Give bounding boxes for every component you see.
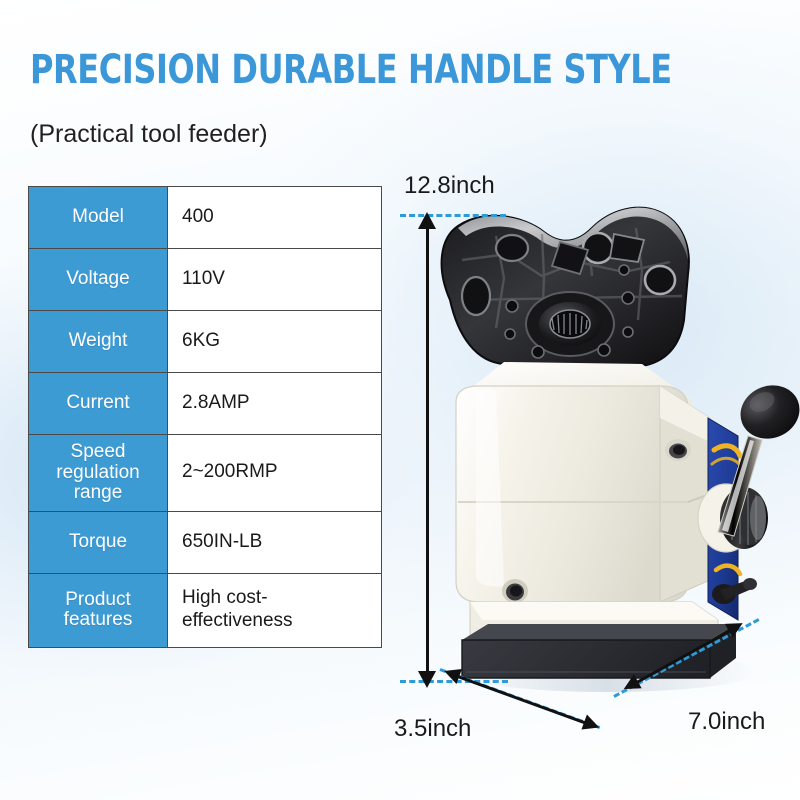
dimension-guide-top — [400, 214, 506, 217]
spec-value: 2.8AMP — [168, 373, 382, 435]
product-figure: 12.8inch 3.5inch 7.0inch — [392, 150, 800, 800]
table-row: Voltage 110V — [29, 249, 382, 311]
table-row: Product features High cost-effectiveness — [29, 573, 382, 647]
arrow-down-icon — [418, 671, 436, 688]
table-row: Model 400 — [29, 187, 382, 249]
spec-value: 650IN-LB — [168, 511, 382, 573]
depth-label: 3.5inch — [394, 715, 471, 743]
spec-label: Weight — [29, 311, 168, 373]
product-photo — [392, 150, 800, 800]
spec-label-line: range — [33, 483, 163, 504]
spec-value: High cost-effectiveness — [168, 573, 382, 647]
main-housing — [456, 362, 718, 642]
spec-value: 2~200RMP — [168, 435, 382, 512]
spec-value: 400 — [168, 187, 382, 249]
spec-label-line: Product — [33, 590, 163, 611]
side-port — [665, 439, 691, 461]
arrow-up-icon — [418, 212, 436, 229]
product-infographic: PRECISION DURABLE HANDLE STYLE (Practica… — [0, 0, 800, 800]
spec-label-line: regulation — [33, 463, 163, 484]
page-subtitle: (Practical tool feeder) — [30, 120, 268, 149]
spec-label: Torque — [29, 511, 168, 573]
spec-label: Current — [29, 373, 168, 435]
specification-table: Model 400 Voltage 110V Weight 6KG Curren… — [28, 186, 382, 648]
table-row: Torque 650IN-LB — [29, 511, 382, 573]
spec-value-line: High — [182, 587, 221, 608]
spec-label-line: features — [33, 610, 163, 631]
table-row: Speed regulation range 2~200RMP — [29, 435, 382, 512]
spec-label: Speed regulation range — [29, 435, 168, 512]
spec-label-line: Speed — [33, 442, 163, 463]
table-row: Current 2.8AMP — [29, 373, 382, 435]
height-label: 12.8inch — [404, 172, 495, 200]
table-row: Weight 6KG — [29, 311, 382, 373]
spec-label: Voltage — [29, 249, 168, 311]
spec-value: 110V — [168, 249, 382, 311]
spec-value: 6KG — [168, 311, 382, 373]
page-title: PRECISION DURABLE HANDLE STYLE — [30, 47, 672, 93]
spec-label: Model — [29, 187, 168, 249]
spec-label: Product features — [29, 573, 168, 647]
height-dimension-line — [426, 222, 429, 674]
top-casting — [442, 208, 689, 366]
width-label: 7.0inch — [688, 708, 765, 736]
